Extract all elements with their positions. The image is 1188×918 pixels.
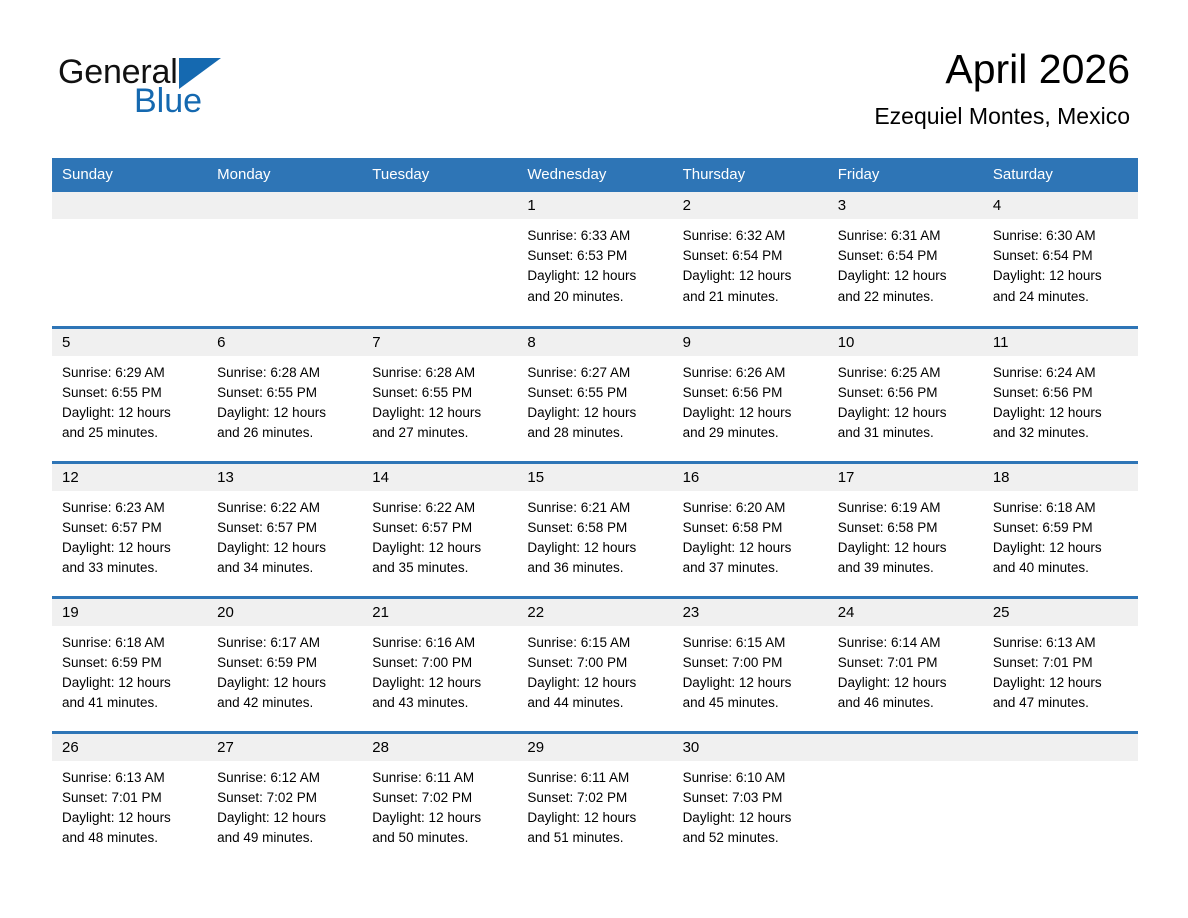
day-cell[interactable]: 29 Sunrise: 6:11 AM Sunset: 7:02 PM Dayl… [517,732,672,867]
daylight-line2: and 39 minutes. [838,558,973,578]
calendar-week-row: 26 Sunrise: 6:13 AM Sunset: 7:01 PM Dayl… [52,732,1138,867]
sunrise-text: Sunrise: 6:28 AM [372,363,507,383]
sunrise-text: Sunrise: 6:24 AM [993,363,1128,383]
daylight-line1: Daylight: 12 hours [838,403,973,423]
daylight-line2: and 22 minutes. [838,287,973,307]
weekday-header-tuesday: Tuesday [362,158,517,192]
day-cell[interactable] [207,192,362,327]
daylight-line2: and 50 minutes. [372,828,507,848]
sunset-text: Sunset: 7:00 PM [372,653,507,673]
sunrise-text: Sunrise: 6:27 AM [527,363,662,383]
day-details: Sunrise: 6:15 AM Sunset: 7:00 PM Dayligh… [673,626,828,714]
day-details: Sunrise: 6:17 AM Sunset: 6:59 PM Dayligh… [207,626,362,714]
daylight-line1: Daylight: 12 hours [372,538,507,558]
sunset-text: Sunset: 6:58 PM [527,518,662,538]
day-cell[interactable] [52,192,207,327]
day-cell[interactable]: 7 Sunrise: 6:28 AM Sunset: 6:55 PM Dayli… [362,327,517,462]
day-number [207,192,362,219]
daylight-line1: Daylight: 12 hours [527,403,662,423]
weekday-header-thursday: Thursday [673,158,828,192]
daylight-line2: and 36 minutes. [527,558,662,578]
sunrise-text: Sunrise: 6:22 AM [372,498,507,518]
sunrise-text: Sunrise: 6:11 AM [372,768,507,788]
daylight-line1: Daylight: 12 hours [62,808,197,828]
daylight-line2: and 51 minutes. [527,828,662,848]
day-cell[interactable] [362,192,517,327]
sunrise-text: Sunrise: 6:11 AM [527,768,662,788]
daylight-line2: and 52 minutes. [683,828,818,848]
day-number: 7 [362,329,517,356]
day-number: 5 [52,329,207,356]
weekday-header-wednesday: Wednesday [517,158,672,192]
day-details: Sunrise: 6:28 AM Sunset: 6:55 PM Dayligh… [362,356,517,444]
daylight-line1: Daylight: 12 hours [838,266,973,286]
day-cell[interactable]: 28 Sunrise: 6:11 AM Sunset: 7:02 PM Dayl… [362,732,517,867]
day-number: 6 [207,329,362,356]
day-details: Sunrise: 6:23 AM Sunset: 6:57 PM Dayligh… [52,491,207,579]
calendar-week-row: 1 Sunrise: 6:33 AM Sunset: 6:53 PM Dayli… [52,192,1138,327]
day-number: 17 [828,464,983,491]
daylight-line1: Daylight: 12 hours [993,403,1128,423]
sunrise-text: Sunrise: 6:31 AM [838,226,973,246]
daylight-line2: and 49 minutes. [217,828,352,848]
daylight-line1: Daylight: 12 hours [683,808,818,828]
sunset-text: Sunset: 6:54 PM [993,246,1128,266]
day-number: 28 [362,734,517,761]
day-details: Sunrise: 6:32 AM Sunset: 6:54 PM Dayligh… [673,219,828,307]
day-details: Sunrise: 6:19 AM Sunset: 6:58 PM Dayligh… [828,491,983,579]
day-number [828,734,983,761]
day-cell[interactable]: 8 Sunrise: 6:27 AM Sunset: 6:55 PM Dayli… [517,327,672,462]
daylight-line2: and 31 minutes. [838,423,973,443]
sunset-text: Sunset: 6:54 PM [838,246,973,266]
day-cell[interactable]: 12 Sunrise: 6:23 AM Sunset: 6:57 PM Dayl… [52,462,207,597]
sunrise-text: Sunrise: 6:30 AM [993,226,1128,246]
day-number: 15 [517,464,672,491]
sunset-text: Sunset: 7:02 PM [372,788,507,808]
day-cell[interactable]: 22 Sunrise: 6:15 AM Sunset: 7:00 PM Dayl… [517,597,672,732]
sunset-text: Sunset: 6:57 PM [372,518,507,538]
sunrise-text: Sunrise: 6:13 AM [993,633,1128,653]
day-number: 23 [673,599,828,626]
day-details: Sunrise: 6:20 AM Sunset: 6:58 PM Dayligh… [673,491,828,579]
sunset-text: Sunset: 6:58 PM [838,518,973,538]
daylight-line1: Daylight: 12 hours [372,403,507,423]
daylight-line2: and 24 minutes. [993,287,1128,307]
day-cell[interactable]: 2 Sunrise: 6:32 AM Sunset: 6:54 PM Dayli… [673,192,828,327]
day-details: Sunrise: 6:11 AM Sunset: 7:02 PM Dayligh… [517,761,672,849]
daylight-line2: and 26 minutes. [217,423,352,443]
sunset-text: Sunset: 7:02 PM [527,788,662,808]
day-cell[interactable]: 24 Sunrise: 6:14 AM Sunset: 7:01 PM Dayl… [828,597,983,732]
day-cell[interactable]: 13 Sunrise: 6:22 AM Sunset: 6:57 PM Dayl… [207,462,362,597]
daylight-line1: Daylight: 12 hours [683,673,818,693]
day-cell[interactable]: 17 Sunrise: 6:19 AM Sunset: 6:58 PM Dayl… [828,462,983,597]
sunrise-text: Sunrise: 6:15 AM [527,633,662,653]
calendar-week-row: 19 Sunrise: 6:18 AM Sunset: 6:59 PM Dayl… [52,597,1138,732]
sunrise-text: Sunrise: 6:25 AM [838,363,973,383]
daylight-line2: and 37 minutes. [683,558,818,578]
daylight-line2: and 33 minutes. [62,558,197,578]
daylight-line1: Daylight: 12 hours [62,403,197,423]
day-cell[interactable]: 10 Sunrise: 6:25 AM Sunset: 6:56 PM Dayl… [828,327,983,462]
daylight-line1: Daylight: 12 hours [683,538,818,558]
daylight-line2: and 48 minutes. [62,828,197,848]
day-details: Sunrise: 6:15 AM Sunset: 7:00 PM Dayligh… [517,626,672,714]
day-number: 12 [52,464,207,491]
day-number [52,192,207,219]
sunset-text: Sunset: 6:55 PM [62,383,197,403]
sunset-text: Sunset: 6:56 PM [838,383,973,403]
sunrise-text: Sunrise: 6:10 AM [683,768,818,788]
day-number: 27 [207,734,362,761]
calendar-table: Sunday Monday Tuesday Wednesday Thursday… [52,158,1138,867]
day-details: Sunrise: 6:13 AM Sunset: 7:01 PM Dayligh… [983,626,1138,714]
sunrise-text: Sunrise: 6:26 AM [683,363,818,383]
sunset-text: Sunset: 7:02 PM [217,788,352,808]
daylight-line2: and 42 minutes. [217,693,352,713]
day-cell[interactable]: 3 Sunrise: 6:31 AM Sunset: 6:54 PM Dayli… [828,192,983,327]
daylight-line1: Daylight: 12 hours [62,673,197,693]
daylight-line1: Daylight: 12 hours [217,538,352,558]
day-details: Sunrise: 6:30 AM Sunset: 6:54 PM Dayligh… [983,219,1138,307]
sunset-text: Sunset: 6:54 PM [683,246,818,266]
day-cell[interactable]: 25 Sunrise: 6:13 AM Sunset: 7:01 PM Dayl… [983,597,1138,732]
sunset-text: Sunset: 6:57 PM [62,518,197,538]
day-cell[interactable]: 5 Sunrise: 6:29 AM Sunset: 6:55 PM Dayli… [52,327,207,462]
sunset-text: Sunset: 6:55 PM [217,383,352,403]
day-details: Sunrise: 6:31 AM Sunset: 6:54 PM Dayligh… [828,219,983,307]
daylight-line1: Daylight: 12 hours [217,673,352,693]
sunrise-text: Sunrise: 6:28 AM [217,363,352,383]
day-details: Sunrise: 6:18 AM Sunset: 6:59 PM Dayligh… [983,491,1138,579]
daylight-line1: Daylight: 12 hours [217,808,352,828]
day-details: Sunrise: 6:10 AM Sunset: 7:03 PM Dayligh… [673,761,828,849]
daylight-line2: and 45 minutes. [683,693,818,713]
day-cell[interactable]: 6 Sunrise: 6:28 AM Sunset: 6:55 PM Dayli… [207,327,362,462]
day-cell[interactable] [828,732,983,867]
day-number: 21 [362,599,517,626]
daylight-line2: and 20 minutes. [527,287,662,307]
page-subtitle: Ezequiel Montes, Mexico [874,103,1130,130]
calendar-header-row: Sunday Monday Tuesday Wednesday Thursday… [52,158,1138,192]
day-details: Sunrise: 6:26 AM Sunset: 6:56 PM Dayligh… [673,356,828,444]
sunset-text: Sunset: 6:59 PM [217,653,352,673]
day-details: Sunrise: 6:21 AM Sunset: 6:58 PM Dayligh… [517,491,672,579]
day-cell[interactable]: 14 Sunrise: 6:22 AM Sunset: 6:57 PM Dayl… [362,462,517,597]
day-number: 13 [207,464,362,491]
daylight-line1: Daylight: 12 hours [838,538,973,558]
day-number: 22 [517,599,672,626]
day-number: 4 [983,192,1138,219]
sunrise-text: Sunrise: 6:22 AM [217,498,352,518]
day-number: 8 [517,329,672,356]
daylight-line2: and 44 minutes. [527,693,662,713]
daylight-line1: Daylight: 12 hours [527,673,662,693]
day-details: Sunrise: 6:18 AM Sunset: 6:59 PM Dayligh… [52,626,207,714]
day-details: Sunrise: 6:27 AM Sunset: 6:55 PM Dayligh… [517,356,672,444]
day-number: 2 [673,192,828,219]
day-cell[interactable]: 26 Sunrise: 6:13 AM Sunset: 7:01 PM Dayl… [52,732,207,867]
daylight-line2: and 35 minutes. [372,558,507,578]
day-cell[interactable]: 20 Sunrise: 6:17 AM Sunset: 6:59 PM Dayl… [207,597,362,732]
page-title: April 2026 [874,45,1130,93]
day-cell[interactable]: 1 Sunrise: 6:33 AM Sunset: 6:53 PM Dayli… [517,192,672,327]
page-header: General Blue April 2026 Ezequiel Montes,… [0,0,1188,155]
daylight-line1: Daylight: 12 hours [683,403,818,423]
logo-text-blue: Blue [134,84,202,118]
day-number: 26 [52,734,207,761]
daylight-line2: and 40 minutes. [993,558,1128,578]
day-details: Sunrise: 6:14 AM Sunset: 7:01 PM Dayligh… [828,626,983,714]
day-details: Sunrise: 6:33 AM Sunset: 6:53 PM Dayligh… [517,219,672,307]
day-number: 24 [828,599,983,626]
calendar-week-row: 12 Sunrise: 6:23 AM Sunset: 6:57 PM Dayl… [52,462,1138,597]
day-details: Sunrise: 6:29 AM Sunset: 6:55 PM Dayligh… [52,356,207,444]
sunrise-text: Sunrise: 6:14 AM [838,633,973,653]
daylight-line2: and 27 minutes. [372,423,507,443]
general-blue-logo[interactable]: General Blue [58,52,328,124]
daylight-line2: and 46 minutes. [838,693,973,713]
sunrise-text: Sunrise: 6:17 AM [217,633,352,653]
daylight-line2: and 32 minutes. [993,423,1128,443]
sunset-text: Sunset: 6:57 PM [217,518,352,538]
title-block: April 2026 Ezequiel Montes, Mexico [874,45,1130,130]
sunrise-text: Sunrise: 6:18 AM [993,498,1128,518]
sunset-text: Sunset: 7:03 PM [683,788,818,808]
day-details: Sunrise: 6:28 AM Sunset: 6:55 PM Dayligh… [207,356,362,444]
weekday-header-saturday: Saturday [983,158,1138,192]
weekday-header-friday: Friday [828,158,983,192]
sunrise-text: Sunrise: 6:13 AM [62,768,197,788]
sunset-text: Sunset: 7:01 PM [993,653,1128,673]
daylight-line1: Daylight: 12 hours [62,538,197,558]
day-cell[interactable]: 27 Sunrise: 6:12 AM Sunset: 7:02 PM Dayl… [207,732,362,867]
daylight-line1: Daylight: 12 hours [527,808,662,828]
day-details: Sunrise: 6:12 AM Sunset: 7:02 PM Dayligh… [207,761,362,849]
day-number: 16 [673,464,828,491]
calendar-body: 1 Sunrise: 6:33 AM Sunset: 6:53 PM Dayli… [52,192,1138,867]
sunset-text: Sunset: 7:00 PM [527,653,662,673]
daylight-line1: Daylight: 12 hours [838,673,973,693]
daylight-line2: and 34 minutes. [217,558,352,578]
day-details: Sunrise: 6:24 AM Sunset: 6:56 PM Dayligh… [983,356,1138,444]
day-cell[interactable]: 4 Sunrise: 6:30 AM Sunset: 6:54 PM Dayli… [983,192,1138,327]
calendar-page: General Blue April 2026 Ezequiel Montes,… [0,0,1188,918]
weekday-header-monday: Monday [207,158,362,192]
sunset-text: Sunset: 6:58 PM [683,518,818,538]
daylight-line2: and 47 minutes. [993,693,1128,713]
sunset-text: Sunset: 7:01 PM [62,788,197,808]
sunrise-text: Sunrise: 6:33 AM [527,226,662,246]
day-number: 14 [362,464,517,491]
sunrise-text: Sunrise: 6:21 AM [527,498,662,518]
day-number: 3 [828,192,983,219]
day-cell[interactable]: 16 Sunrise: 6:20 AM Sunset: 6:58 PM Dayl… [673,462,828,597]
day-number: 9 [673,329,828,356]
day-number [362,192,517,219]
calendar-week-row: 5 Sunrise: 6:29 AM Sunset: 6:55 PM Dayli… [52,327,1138,462]
day-details: Sunrise: 6:16 AM Sunset: 7:00 PM Dayligh… [362,626,517,714]
daylight-line1: Daylight: 12 hours [527,266,662,286]
day-cell[interactable]: 30 Sunrise: 6:10 AM Sunset: 7:03 PM Dayl… [673,732,828,867]
day-cell[interactable]: 23 Sunrise: 6:15 AM Sunset: 7:00 PM Dayl… [673,597,828,732]
daylight-line1: Daylight: 12 hours [527,538,662,558]
day-details: Sunrise: 6:22 AM Sunset: 6:57 PM Dayligh… [362,491,517,579]
daylight-line1: Daylight: 12 hours [993,266,1128,286]
sunset-text: Sunset: 6:53 PM [527,246,662,266]
day-number: 29 [517,734,672,761]
day-number: 25 [983,599,1138,626]
day-cell[interactable]: 18 Sunrise: 6:18 AM Sunset: 6:59 PM Dayl… [983,462,1138,597]
sunrise-text: Sunrise: 6:23 AM [62,498,197,518]
sunrise-text: Sunrise: 6:29 AM [62,363,197,383]
day-number [983,734,1138,761]
day-details: Sunrise: 6:25 AM Sunset: 6:56 PM Dayligh… [828,356,983,444]
sunrise-text: Sunrise: 6:18 AM [62,633,197,653]
daylight-line2: and 25 minutes. [62,423,197,443]
daylight-line2: and 43 minutes. [372,693,507,713]
day-cell[interactable]: 15 Sunrise: 6:21 AM Sunset: 6:58 PM Dayl… [517,462,672,597]
weekday-header-sunday: Sunday [52,158,207,192]
day-number: 18 [983,464,1138,491]
sunrise-text: Sunrise: 6:16 AM [372,633,507,653]
daylight-line1: Daylight: 12 hours [993,673,1128,693]
day-details: Sunrise: 6:13 AM Sunset: 7:01 PM Dayligh… [52,761,207,849]
daylight-line2: and 41 minutes. [62,693,197,713]
sunset-text: Sunset: 6:56 PM [683,383,818,403]
day-number: 1 [517,192,672,219]
day-number: 30 [673,734,828,761]
sunset-text: Sunset: 6:56 PM [993,383,1128,403]
day-details: Sunrise: 6:22 AM Sunset: 6:57 PM Dayligh… [207,491,362,579]
day-cell[interactable]: 19 Sunrise: 6:18 AM Sunset: 6:59 PM Dayl… [52,597,207,732]
daylight-line2: and 28 minutes. [527,423,662,443]
sunset-text: Sunset: 6:59 PM [62,653,197,673]
day-cell[interactable]: 9 Sunrise: 6:26 AM Sunset: 6:56 PM Dayli… [673,327,828,462]
day-number: 10 [828,329,983,356]
day-number: 19 [52,599,207,626]
daylight-line1: Daylight: 12 hours [683,266,818,286]
sunset-text: Sunset: 7:00 PM [683,653,818,673]
day-cell[interactable]: 11 Sunrise: 6:24 AM Sunset: 6:56 PM Dayl… [983,327,1138,462]
daylight-line2: and 29 minutes. [683,423,818,443]
sunrise-text: Sunrise: 6:12 AM [217,768,352,788]
sunrise-text: Sunrise: 6:15 AM [683,633,818,653]
day-details: Sunrise: 6:11 AM Sunset: 7:02 PM Dayligh… [362,761,517,849]
sunset-text: Sunset: 6:55 PM [527,383,662,403]
day-number: 20 [207,599,362,626]
daylight-line1: Daylight: 12 hours [372,673,507,693]
sunrise-text: Sunrise: 6:19 AM [838,498,973,518]
daylight-line2: and 21 minutes. [683,287,818,307]
day-cell[interactable]: 21 Sunrise: 6:16 AM Sunset: 7:00 PM Dayl… [362,597,517,732]
daylight-line1: Daylight: 12 hours [372,808,507,828]
day-number: 11 [983,329,1138,356]
sunrise-text: Sunrise: 6:20 AM [683,498,818,518]
sunset-text: Sunset: 7:01 PM [838,653,973,673]
daylight-line1: Daylight: 12 hours [217,403,352,423]
day-cell[interactable] [983,732,1138,867]
sunrise-text: Sunrise: 6:32 AM [683,226,818,246]
daylight-line1: Daylight: 12 hours [993,538,1128,558]
sunset-text: Sunset: 6:59 PM [993,518,1128,538]
sunset-text: Sunset: 6:55 PM [372,383,507,403]
